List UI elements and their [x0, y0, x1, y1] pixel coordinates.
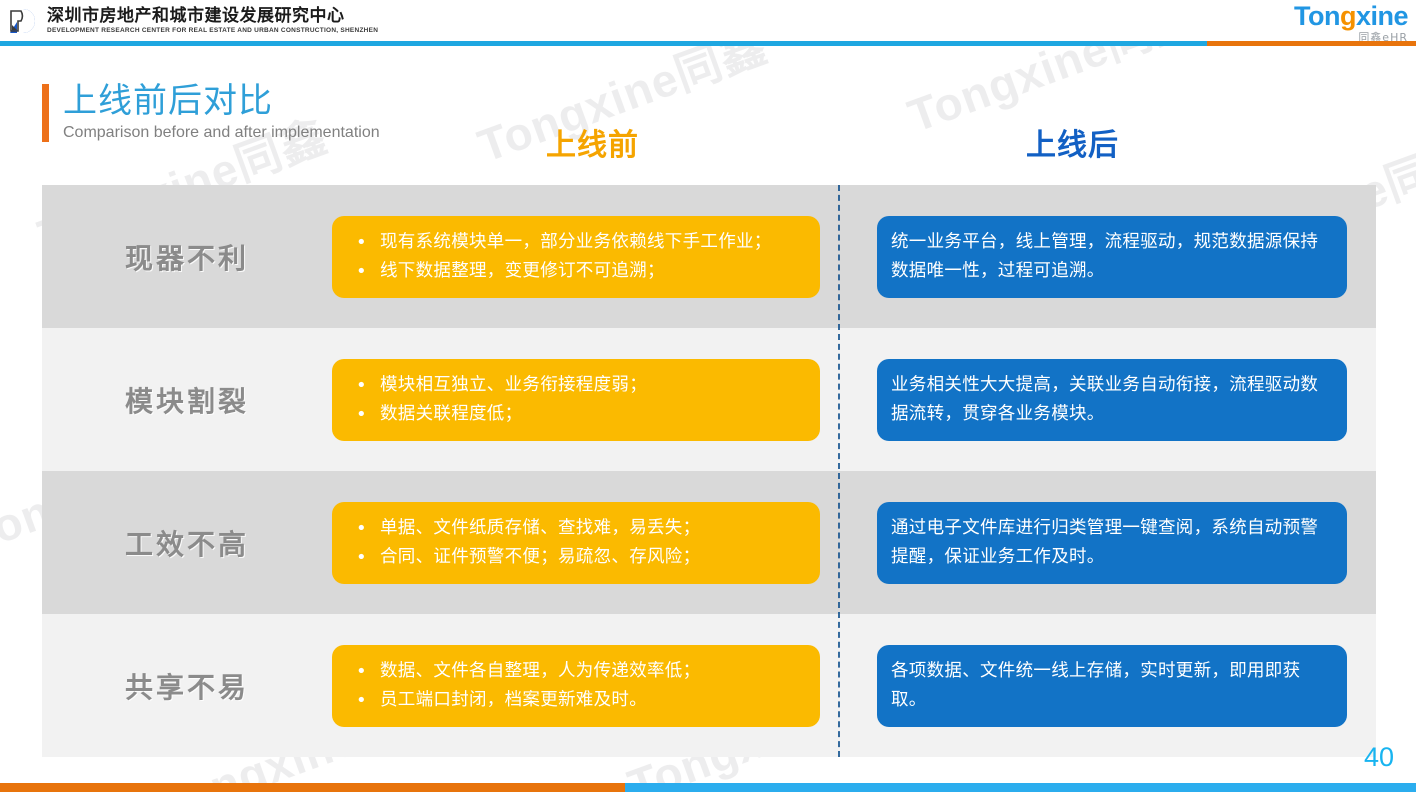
- after-text: 统一业务平台，线上管理，流程驱动，规范数据源保持数据唯一性，过程可追溯。: [891, 228, 1331, 286]
- header-divider-rule: [0, 41, 1416, 46]
- row-label: 工效不高: [42, 523, 332, 563]
- page-subtitle: Comparison before and after implementati…: [63, 122, 380, 144]
- table-row: 共享不易 数据、文件各自整理，人为传递效率低； 员工端口封闭，档案更新难及时。 …: [42, 614, 1376, 757]
- before-bullet-list: 单据、文件纸质存储、查找难，易丢失； 合同、证件预警不便；易疏忽、存风险；: [346, 514, 804, 572]
- research-center-logo-icon: [6, 6, 40, 36]
- list-item: 数据关联程度低；: [346, 400, 804, 429]
- header-rule-blue-segment: [0, 41, 1207, 46]
- organization-name-cn: 深圳市房地产和城市建设发展研究中心: [47, 7, 378, 26]
- list-item: 单据、文件纸质存储、查找难，易丢失；: [346, 514, 804, 543]
- list-item: 现有系统模块单一，部分业务依赖线下手工作业；: [346, 228, 804, 257]
- list-item: 线下数据整理，变更修订不可追溯；: [346, 257, 804, 286]
- footer-rule-blue-segment: [625, 783, 1416, 792]
- organization-logo: 深圳市房地产和城市建设发展研究中心 DEVELOPMENT RESEARCH C…: [6, 6, 378, 36]
- title-accent-bar: [42, 84, 49, 142]
- before-bullet-list: 现有系统模块单一，部分业务依赖线下手工作业； 线下数据整理，变更修订不可追溯；: [346, 228, 804, 286]
- tongxine-brand-logo: Tongxine 同鑫eHR: [1294, 2, 1408, 44]
- footer-rule-orange-segment: [0, 783, 625, 792]
- header-rule-orange-segment: [1207, 41, 1416, 46]
- cell-before: 数据、文件各自整理，人为传递效率低； 员工端口封闭，档案更新难及时。: [332, 645, 832, 727]
- before-callout-box: 模块相互独立、业务衔接程度弱； 数据关联程度低；: [332, 359, 820, 441]
- table-row: 现器不利 现有系统模块单一，部分业务依赖线下手工作业； 线下数据整理，变更修订不…: [42, 185, 1376, 328]
- table-row: 工效不高 单据、文件纸质存储、查找难，易丢失； 合同、证件预警不便；易疏忽、存风…: [42, 471, 1376, 614]
- cell-before: 模块相互独立、业务衔接程度弱； 数据关联程度低；: [332, 359, 832, 441]
- row-label: 模块割裂: [42, 380, 332, 420]
- cell-after: 业务相关性大大提高，关联业务自动衔接，流程驱动数据流转，贯穿各业务模块。: [862, 359, 1376, 441]
- brand-name-part2: xine: [1356, 1, 1408, 31]
- comparison-table: 现器不利 现有系统模块单一，部分业务依赖线下手工作业； 线下数据整理，变更修订不…: [42, 185, 1376, 757]
- page-title-block: 上线前后对比 Comparison before and after imple…: [42, 80, 380, 144]
- table-row: 模块割裂 模块相互独立、业务衔接程度弱； 数据关联程度低； 业务相关性大大提高，…: [42, 328, 1376, 471]
- list-item: 模块相互独立、业务衔接程度弱；: [346, 371, 804, 400]
- slide-header: 深圳市房地产和城市建设发展研究中心 DEVELOPMENT RESEARCH C…: [0, 0, 1416, 45]
- page-number: 40: [1364, 742, 1394, 773]
- cell-before: 单据、文件纸质存储、查找难，易丢失； 合同、证件预警不便；易疏忽、存风险；: [332, 502, 832, 584]
- before-callout-box: 数据、文件各自整理，人为传递效率低； 员工端口封闭，档案更新难及时。: [332, 645, 820, 727]
- before-callout-box: 现有系统模块单一，部分业务依赖线下手工作业； 线下数据整理，变更修订不可追溯；: [332, 216, 820, 298]
- before-after-divider: [838, 185, 840, 757]
- after-callout-box: 统一业务平台，线上管理，流程驱动，规范数据源保持数据唯一性，过程可追溯。: [877, 216, 1347, 298]
- after-callout-box: 业务相关性大大提高，关联业务自动衔接，流程驱动数据流转，贯穿各业务模块。: [877, 359, 1347, 441]
- footer-divider-rule: [0, 783, 1416, 792]
- before-callout-box: 单据、文件纸质存储、查找难，易丢失； 合同、证件预警不便；易疏忽、存风险；: [332, 502, 820, 584]
- row-label: 共享不易: [42, 666, 332, 706]
- page-title: 上线前后对比: [63, 80, 380, 122]
- before-bullet-list: 数据、文件各自整理，人为传递效率低； 员工端口封闭，档案更新难及时。: [346, 657, 804, 715]
- after-callout-box: 各项数据、文件统一线上存储，实时更新，即用即获取。: [877, 645, 1347, 727]
- after-text: 各项数据、文件统一线上存储，实时更新，即用即获取。: [891, 657, 1331, 715]
- brand-name: Tongxine: [1294, 2, 1408, 30]
- after-text: 通过电子文件库进行归类管理一键查阅，系统自动预警提醒，保证业务工作及时。: [891, 514, 1331, 572]
- list-item: 员工端口封闭，档案更新难及时。: [346, 686, 804, 715]
- column-header-after: 上线后: [1026, 126, 1119, 166]
- organization-name-en: DEVELOPMENT RESEARCH CENTER FOR REAL EST…: [47, 26, 378, 35]
- after-text: 业务相关性大大提高，关联业务自动衔接，流程驱动数据流转，贯穿各业务模块。: [891, 371, 1331, 429]
- organization-name-block: 深圳市房地产和城市建设发展研究中心 DEVELOPMENT RESEARCH C…: [47, 7, 378, 35]
- before-bullet-list: 模块相互独立、业务衔接程度弱； 数据关联程度低；: [346, 371, 804, 429]
- slide-canvas: Tongxine同鑫 Tongxine同鑫 Tongxine同鑫 Tongxin…: [0, 0, 1416, 792]
- cell-after: 统一业务平台，线上管理，流程驱动，规范数据源保持数据唯一性，过程可追溯。: [862, 216, 1376, 298]
- row-label: 现器不利: [42, 237, 332, 277]
- list-item: 数据、文件各自整理，人为传递效率低；: [346, 657, 804, 686]
- title-text-wrap: 上线前后对比 Comparison before and after imple…: [63, 80, 380, 144]
- cell-after: 通过电子文件库进行归类管理一键查阅，系统自动预警提醒，保证业务工作及时。: [862, 502, 1376, 584]
- cell-before: 现有系统模块单一，部分业务依赖线下手工作业； 线下数据整理，变更修订不可追溯；: [332, 216, 832, 298]
- column-header-before: 上线前: [546, 126, 639, 166]
- list-item: 合同、证件预警不便；易疏忽、存风险；: [346, 543, 804, 572]
- brand-name-accent-letter: g: [1340, 1, 1356, 31]
- brand-name-part1: Ton: [1294, 1, 1340, 31]
- cell-after: 各项数据、文件统一线上存储，实时更新，即用即获取。: [862, 645, 1376, 727]
- after-callout-box: 通过电子文件库进行归类管理一键查阅，系统自动预警提醒，保证业务工作及时。: [877, 502, 1347, 584]
